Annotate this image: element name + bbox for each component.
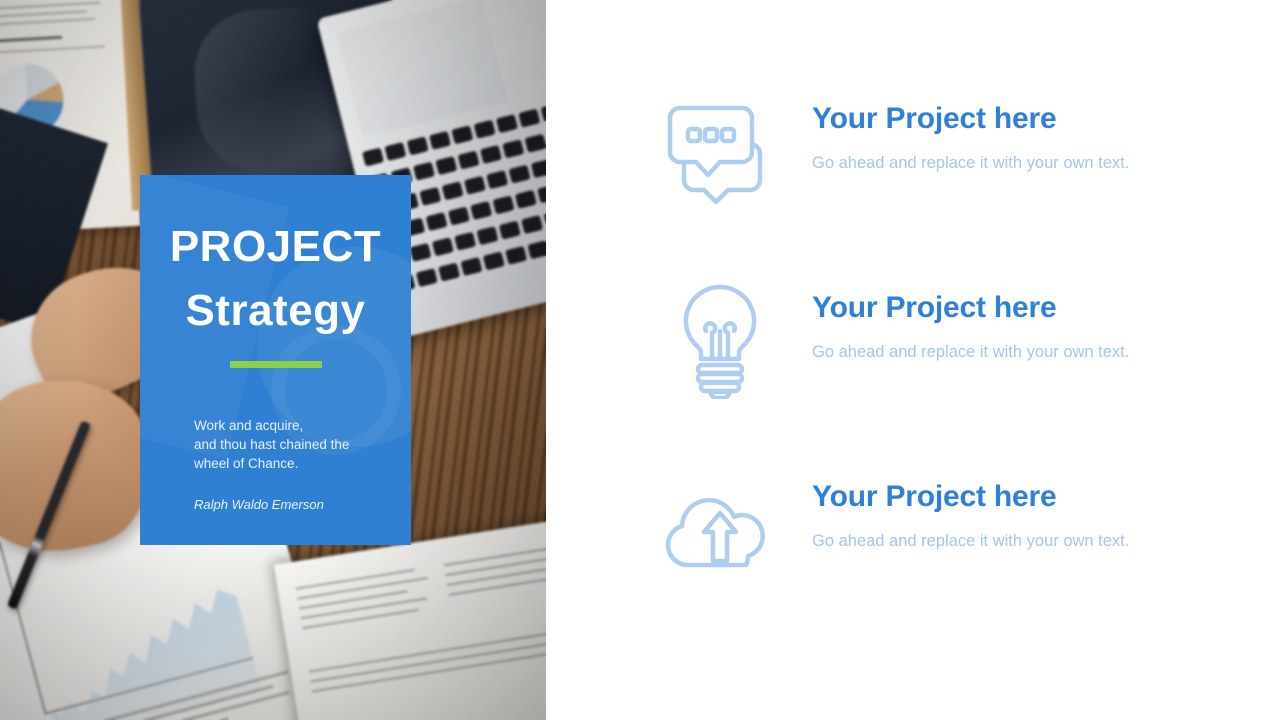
feature-subtitle: Go ahead and replace it with your own te… [812, 530, 1280, 552]
cloud-upload-icon [660, 474, 780, 584]
feature-text-2: Your Project here Go ahead and replace i… [780, 285, 1280, 363]
feature-title: Your Project here [812, 291, 1280, 325]
quote-author: Ralph Waldo Emerson [194, 497, 411, 512]
feature-row-3[interactable]: Your Project here Go ahead and replace i… [660, 474, 1280, 594]
lightbulb-icon [660, 285, 780, 395]
feature-subtitle: Go ahead and replace it with your own te… [812, 152, 1280, 174]
feature-text-3: Your Project here Go ahead and replace i… [780, 474, 1280, 552]
accent-bar [230, 361, 322, 368]
slide: Finan [0, 0, 1280, 720]
quote-card: PROJECT Strategy Work and acquire, and t… [140, 175, 411, 545]
feature-text-1: Your Project here Go ahead and replace i… [780, 96, 1280, 174]
quote-text: Work and acquire, and thou hast chained … [194, 416, 384, 473]
feature-row-1[interactable]: Your Project here Go ahead and replace i… [660, 96, 1280, 216]
feature-row-2[interactable]: Your Project here Go ahead and replace i… [660, 285, 1280, 405]
feature-title: Your Project here [812, 102, 1280, 136]
content-panel: Your Project here Go ahead and replace i… [546, 0, 1280, 720]
feature-title: Your Project here [812, 480, 1280, 514]
feature-subtitle: Go ahead and replace it with your own te… [812, 341, 1280, 363]
card-title: PROJECT Strategy [140, 175, 411, 333]
chat-bubbles-icon [660, 96, 780, 206]
card-title-line2: Strategy [140, 269, 411, 333]
card-title-line1: PROJECT [140, 175, 411, 269]
